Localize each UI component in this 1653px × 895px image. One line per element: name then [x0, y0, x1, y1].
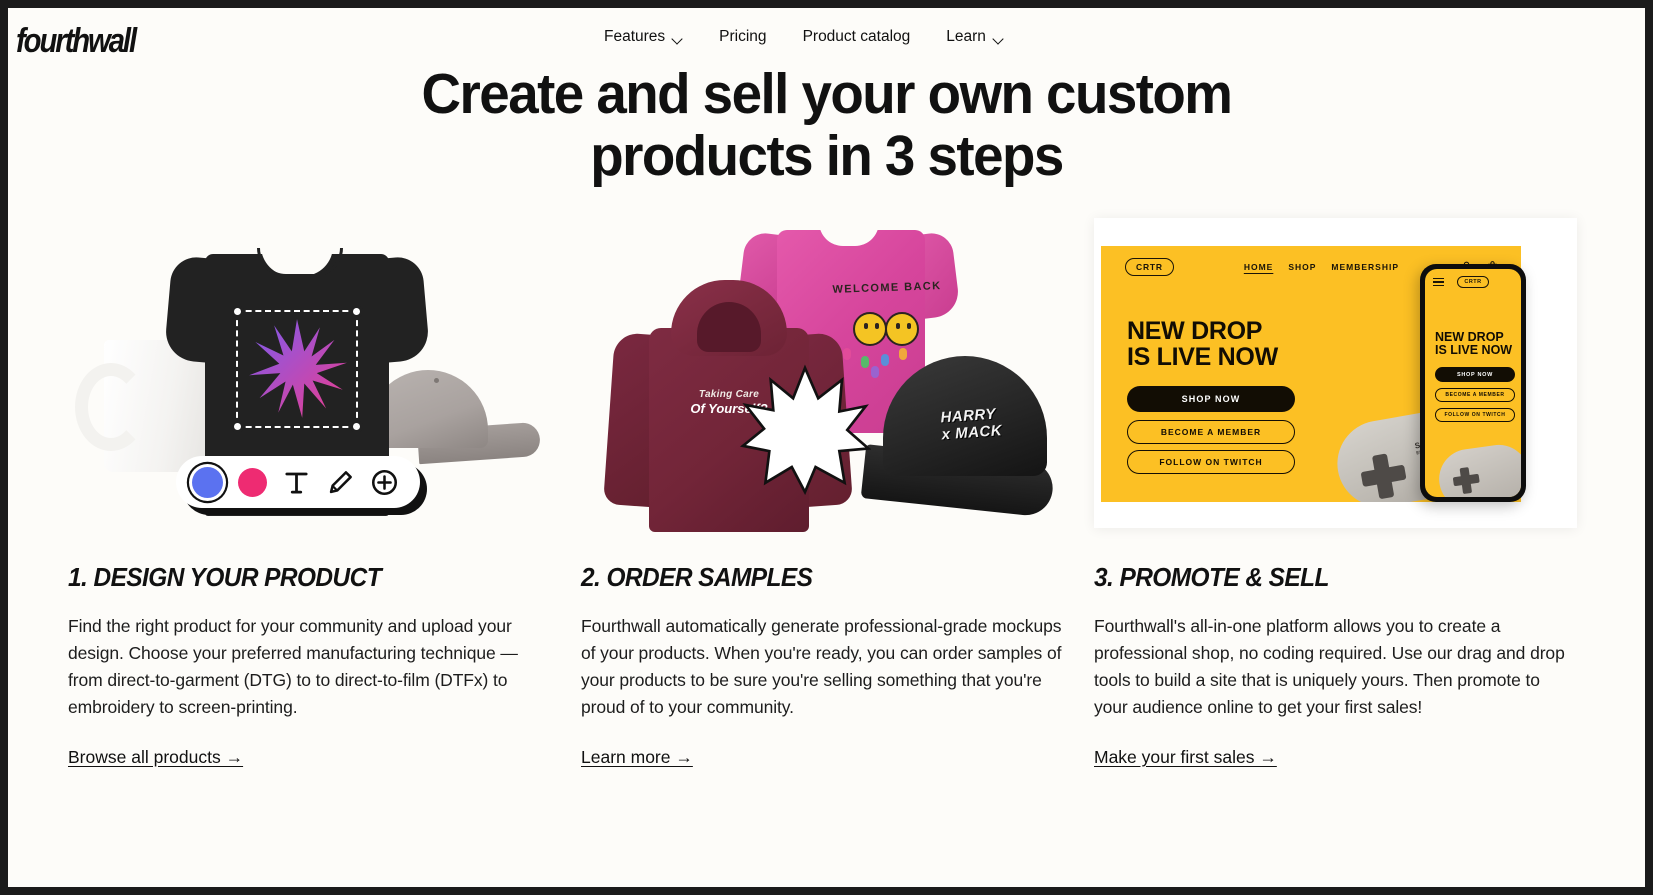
chevron-down-icon [993, 35, 1004, 42]
color-swatch-blue-icon[interactable] [192, 467, 223, 498]
storefront-headline: NEW DROP IS LIVE NOW [1127, 318, 1278, 370]
cartoon-character-right [885, 312, 919, 346]
phone-controller-icon [1435, 441, 1521, 497]
nav-label-features: Features [604, 28, 665, 46]
starburst-graphic [245, 317, 349, 421]
step-card-3: CRTR HOME SHOP MEMBERSHIP [1094, 218, 1577, 768]
main-navigation: Features Pricing Product catalog Learn [604, 28, 1004, 46]
step-1-heading: 1. DESIGN YOUR PRODUCT [68, 562, 522, 593]
white-starburst-shape [739, 364, 871, 496]
black-cap-icon: HARRY x MACK [849, 350, 1055, 526]
phone-crtr-logo: CRTR [1457, 276, 1488, 288]
learn-more-link[interactable]: Learn more → [581, 747, 693, 768]
mobile-site-mockup: CRTR NEW DROP IS LIVE NOW SHOP NOW BECOM… [1420, 264, 1526, 502]
nav-label-pricing: Pricing [719, 28, 766, 46]
storefront-nav-shop: SHOP [1288, 262, 1316, 272]
nav-label-learn: Learn [946, 28, 986, 46]
product-samples-illustration: WELCOME BACK [581, 218, 1064, 538]
tshirt-collar [261, 246, 333, 276]
pencil-icon[interactable] [326, 468, 355, 497]
phone-become-member-button: BECOME A MEMBER [1435, 388, 1515, 402]
cartoon-character-left [853, 312, 887, 346]
resize-handle-bottom-left[interactable] [231, 420, 244, 433]
storefront-headline-line-2: IS LIVE NOW [1127, 344, 1278, 370]
cap-button [434, 378, 439, 383]
storefront-nav-membership: MEMBERSHIP [1331, 262, 1399, 272]
steps-grid: 1. DESIGN YOUR PRODUCT Find the right pr… [68, 218, 1578, 768]
fourthwall-logo[interactable]: fourthwall [16, 22, 135, 61]
nav-item-pricing[interactable]: Pricing [719, 28, 766, 46]
design-editor-illustration [68, 218, 551, 538]
chevron-down-icon [672, 35, 683, 42]
make-first-sales-link[interactable]: Make your first sales → [1094, 747, 1277, 768]
become-a-member-button: BECOME A MEMBER [1127, 420, 1295, 444]
hamburger-menu-icon [1433, 276, 1444, 289]
storefront-headline-line-1: NEW DROP [1127, 318, 1278, 344]
phone-headline-line-2: IS LIVE NOW [1435, 344, 1512, 357]
step-1-body: Find the right product for your communit… [68, 613, 551, 721]
hoodie-hood [671, 280, 787, 356]
nav-item-features[interactable]: Features [604, 28, 683, 46]
storefront-nav-home: HOME [1244, 262, 1274, 272]
editor-toolbar [176, 456, 420, 508]
color-swatch-pink-icon[interactable] [238, 468, 267, 497]
resize-handle-bottom-right[interactable] [350, 420, 363, 433]
step-2-heading: 2. ORDER SAMPLES [581, 562, 1035, 593]
phone-shop-now-button: SHOP NOW [1435, 367, 1515, 382]
selection-bounding-box[interactable] [236, 310, 358, 428]
resize-handle-top-left[interactable] [231, 305, 244, 318]
step-card-2: WELCOME BACK [581, 218, 1064, 768]
storefront-nav: HOME SHOP MEMBERSHIP [1244, 262, 1399, 272]
nav-item-product-catalog[interactable]: Product catalog [803, 28, 911, 46]
page-title: Create and sell your own custom products… [41, 66, 1613, 185]
step-3-body: Fourthwall's all-in-one platform allows … [1094, 613, 1577, 721]
nav-item-learn[interactable]: Learn [946, 28, 1004, 46]
phone-screen: CRTR NEW DROP IS LIVE NOW SHOP NOW BECOM… [1425, 269, 1521, 497]
resize-handle-top-right[interactable] [350, 305, 363, 318]
cap-print: HARRY x MACK [940, 403, 1038, 444]
phone-dpad-vertical [1460, 467, 1473, 494]
phone-topbar: CRTR [1425, 269, 1521, 295]
page-title-line-1: Create and sell your own custom [422, 62, 1232, 126]
step-card-1: 1. DESIGN YOUR PRODUCT Find the right pr… [68, 218, 551, 768]
crtr-logo: CRTR [1125, 258, 1174, 276]
step-2-body: Fourthwall automatically generate profes… [581, 613, 1064, 721]
nav-label-product-catalog: Product catalog [803, 28, 911, 46]
add-icon[interactable] [370, 468, 399, 497]
follow-on-twitch-button: FOLLOW ON TWITCH [1127, 450, 1295, 474]
site-header: fourthwall Features Pricing Product cata… [8, 8, 1645, 68]
desktop-site-mockup: CRTR HOME SHOP MEMBERSHIP [1094, 218, 1577, 528]
phone-follow-twitch-button: FOLLOW ON TWITCH [1435, 408, 1515, 422]
page-viewport: fourthwall Features Pricing Product cata… [8, 8, 1645, 887]
step-3-heading: 3. PROMOTE & SELL [1094, 562, 1548, 593]
shop-now-button: SHOP NOW [1127, 386, 1295, 412]
storefront-illustration: CRTR HOME SHOP MEMBERSHIP [1094, 218, 1577, 538]
text-tool-icon[interactable] [282, 468, 311, 497]
page-title-line-2: products in 3 steps [41, 128, 1613, 185]
phone-headline: NEW DROP IS LIVE NOW [1435, 331, 1512, 357]
browse-all-products-link[interactable]: Browse all products → [68, 747, 243, 768]
